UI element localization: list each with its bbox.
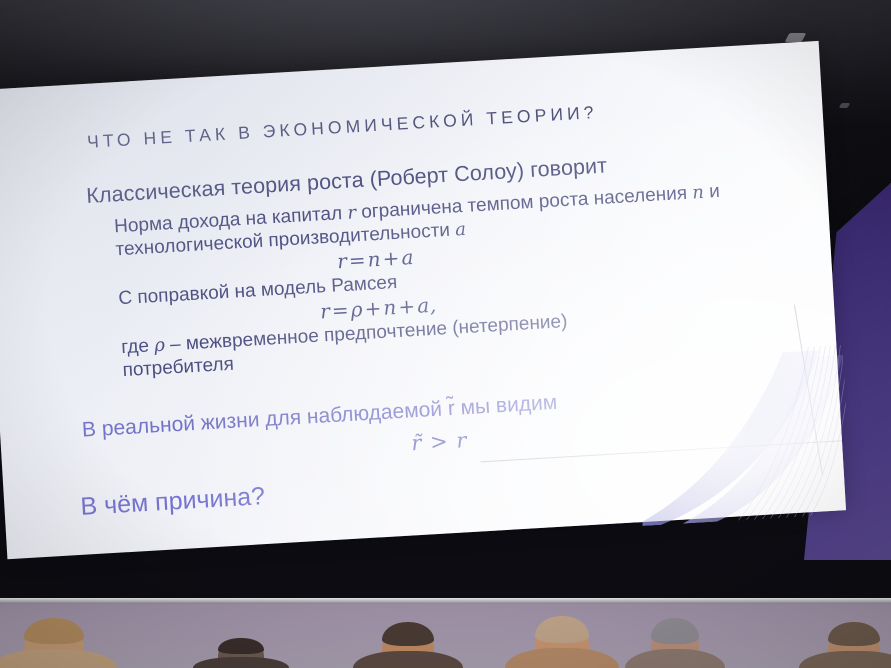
page-title: ЧТО НЕ ТАК В ЭКОНОМИЧЕСКОЙ ТЕОРИИ?	[87, 102, 598, 153]
math-symbol-rho: ρ	[154, 335, 166, 357]
math-symbol-a: a	[455, 219, 467, 241]
shoulder	[0, 649, 117, 668]
formula2-plus-2: +	[396, 294, 418, 319]
decorative-horizontal-rule	[481, 440, 842, 462]
formula2-plus-1: +	[362, 296, 384, 321]
formula1-plus: +	[380, 246, 402, 271]
hair	[651, 618, 699, 644]
hair	[382, 622, 434, 646]
conference-photo: ЧТО НЕ ТАК В ЭКОНОМИЧЕСКОЙ ТЕОРИИ? Класс…	[0, 0, 891, 668]
audience-person	[218, 638, 264, 668]
hair	[218, 638, 264, 654]
shoulder	[193, 657, 290, 668]
hair	[24, 618, 84, 644]
formula-observed-inequality: r̃ > r	[411, 428, 468, 455]
formula2-equals: =	[330, 298, 352, 323]
swoosh-icon	[632, 339, 852, 526]
closing-question: В чём причина?	[80, 482, 266, 522]
hall-wall	[0, 604, 891, 668]
decorative-vertical-rule	[794, 305, 823, 475]
audience-person	[828, 622, 880, 668]
shoulder	[625, 649, 726, 668]
shoulder	[799, 651, 891, 668]
formula2-rhs3: a,	[416, 293, 437, 318]
slide-body: Норма доходa на капитал r ограничена тем…	[114, 180, 733, 382]
projection-screen: ЧТО НЕ ТАК В ЭКОНОМИЧЕСКОЙ ТЕОРИИ? Класс…	[0, 41, 849, 609]
decorative-swoosh-graphic	[632, 339, 852, 526]
real-life-statement: В реальной жизни для наблюдаемой r̃ мы в…	[81, 391, 557, 443]
body-text-2a: населения	[593, 183, 688, 209]
body-text-4a: где	[121, 336, 150, 359]
body-text-1-cont: ограничена темпом роста	[361, 189, 589, 223]
slide-surface: ЧТО НЕ ТАК В ЭКОНОМИЧЕСКОЙ ТЕОРИИ? Класс…	[0, 41, 846, 559]
audience-person	[651, 618, 699, 668]
shoulder	[505, 648, 618, 668]
formula2-rho: ρ	[350, 297, 364, 322]
hair	[535, 616, 589, 643]
math-symbol-n: n	[692, 182, 705, 204]
audience-person	[535, 616, 589, 668]
formula1-rhs1: n	[367, 247, 382, 272]
formula1-rhs2: a	[401, 245, 415, 270]
shoulder	[353, 651, 462, 668]
math-symbol-r: r	[347, 202, 357, 223]
audience-person	[24, 618, 84, 668]
formula1-equals: =	[347, 248, 369, 273]
hair	[828, 622, 880, 646]
audience-person	[382, 622, 434, 668]
